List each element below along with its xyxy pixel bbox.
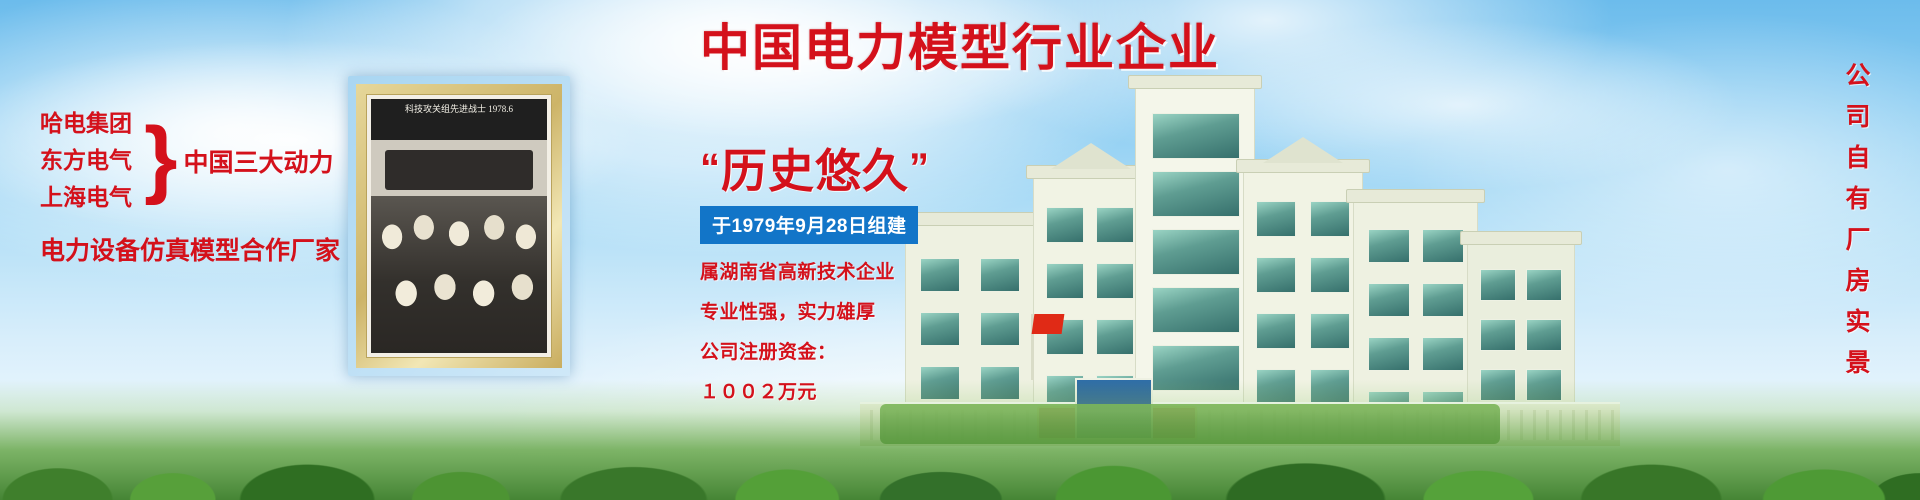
list-item: 哈电集团 [40,112,132,135]
founded-badge: 于1979年9月28日组建 [700,206,918,244]
brand-list: 哈电集团 东方电气 上海电气 [40,112,132,209]
quote-close-mark: ” [909,146,930,190]
center-line: 属湖南省高新技术企业 [700,257,980,284]
list-item: 东方电气 [40,149,132,172]
gable-mid-left [1051,143,1131,169]
list-item: 上海电气 [40,186,132,209]
quote-open-mark: “ [700,146,721,190]
center-line: 公司注册资金： [700,337,980,364]
quote-text: 历史悠久 [721,145,909,197]
roof-right [1346,189,1485,203]
photo-inner-mat: 科技攻关组先进战士 1978.6 [366,94,552,358]
photo-bench [385,150,533,191]
center-line: １００２万元 [700,377,980,404]
photo-caption: 科技攻关组先进战士 1978.6 [371,99,547,140]
center-text-block: “历史悠久” 于1979年9月28日组建 属湖南省高新技术企业 专业性强，实力雄… [700,148,980,404]
historic-photo: 科技攻关组先进战士 1978.6 [371,99,547,353]
photo-gold-mat: 科技攻关组先进战士 1978.6 [356,84,562,368]
page-title: 中国电力模型行业企业 [0,8,1920,80]
promo-banner: 中国电力模型行业企业 哈电集团 东方电气 上海电气 } 中国三大动力 电力设备仿… [0,0,1920,500]
tree-line [0,404,1920,500]
gable-mid-right [1263,137,1343,163]
center-line: 专业性强，实力雄厚 [700,297,980,324]
headline-quote: “历史悠久” [700,148,980,194]
brand-group: 哈电集团 东方电气 上海电气 } 中国三大动力 [40,112,390,209]
right-vertical-caption: 公司自有厂房实景 [1843,62,1868,390]
photo-group-people [371,196,547,353]
historic-photo-frame: 科技攻关组先进战士 1978.6 [348,76,570,376]
brace-label: 中国三大动力 [183,143,333,179]
roof-far-right [1460,231,1582,245]
left-brand-block: 哈电集团 东方电气 上海电气 } 中国三大动力 电力设备仿真模型合作厂家 [40,112,390,267]
flag-icon [1032,314,1065,334]
curly-brace-icon: } [144,122,177,195]
left-footer-text: 电力设备仿真模型合作厂家 [40,231,390,267]
